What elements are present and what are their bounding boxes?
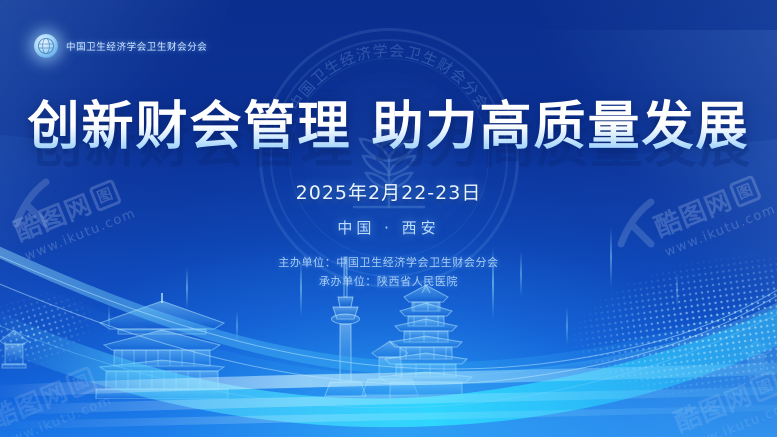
- event-poster: 中国卫生经济学会卫生财会分会: [0, 0, 777, 437]
- pavilion-icon-3: [742, 341, 770, 372]
- light-beam-9: [108, 305, 110, 333]
- poster-details: 2025年2月22-23日 中国 · 西安 主办单位：中国卫生经济学会卫生财会分…: [0, 178, 777, 292]
- poster-title-text: 创新财会管理 助力高质量发展: [27, 98, 749, 156]
- watermark-brand-bl: 酷图网 图: [0, 357, 108, 436]
- light-beam-2: [236, 311, 238, 341]
- event-location: 中国 · 西安: [0, 217, 777, 238]
- association-name-label: 中国卫生经济学会卫生财会分会: [66, 39, 207, 53]
- organizer-block: 主办单位：中国卫生经济学会卫生财会分会 承办单位：陕西省人民医院: [0, 253, 777, 292]
- watermark-brand-br: 酷图网 图: [669, 361, 777, 437]
- pavilion-icon: [0, 330, 28, 368]
- watermark-brand-text-4: 酷图网: [669, 375, 758, 437]
- watermark-box-icon-3: 图: [64, 365, 98, 399]
- watermark-brand-text-3: 酷图网: [0, 371, 73, 436]
- watermark-box-icon-4: 图: [749, 369, 777, 403]
- association-logo-icon: [34, 34, 58, 58]
- watermark-url-bl: www.ikutu.com: [0, 393, 114, 437]
- poster-title: 创新财会管理 助力高质量发展 创新财会管理 助力高质量发展: [0, 98, 777, 156]
- watermark-url-br: www.ikutu.com: [683, 397, 777, 437]
- co-organizer: 承办单位：陕西省人民医院: [0, 272, 777, 291]
- pavilion-icon-2: [362, 341, 418, 395]
- light-beam-6: [566, 307, 568, 345]
- bell-tower-icon: [96, 293, 228, 399]
- big-wild-goose-pagoda-icon: [380, 285, 472, 399]
- event-date: 2025年2月22-23日: [0, 178, 777, 205]
- header-logo-bar: 中国卫生经济学会卫生财会分会: [34, 34, 207, 58]
- host-organization: 主办单位：中国卫生经济学会卫生财会分会: [0, 253, 777, 272]
- watermark-bottom-left: 酷图网 图 www.ikutu.com: [0, 357, 114, 437]
- watermark-bottom-right: 酷图网 图 www.ikutu.com: [669, 361, 777, 437]
